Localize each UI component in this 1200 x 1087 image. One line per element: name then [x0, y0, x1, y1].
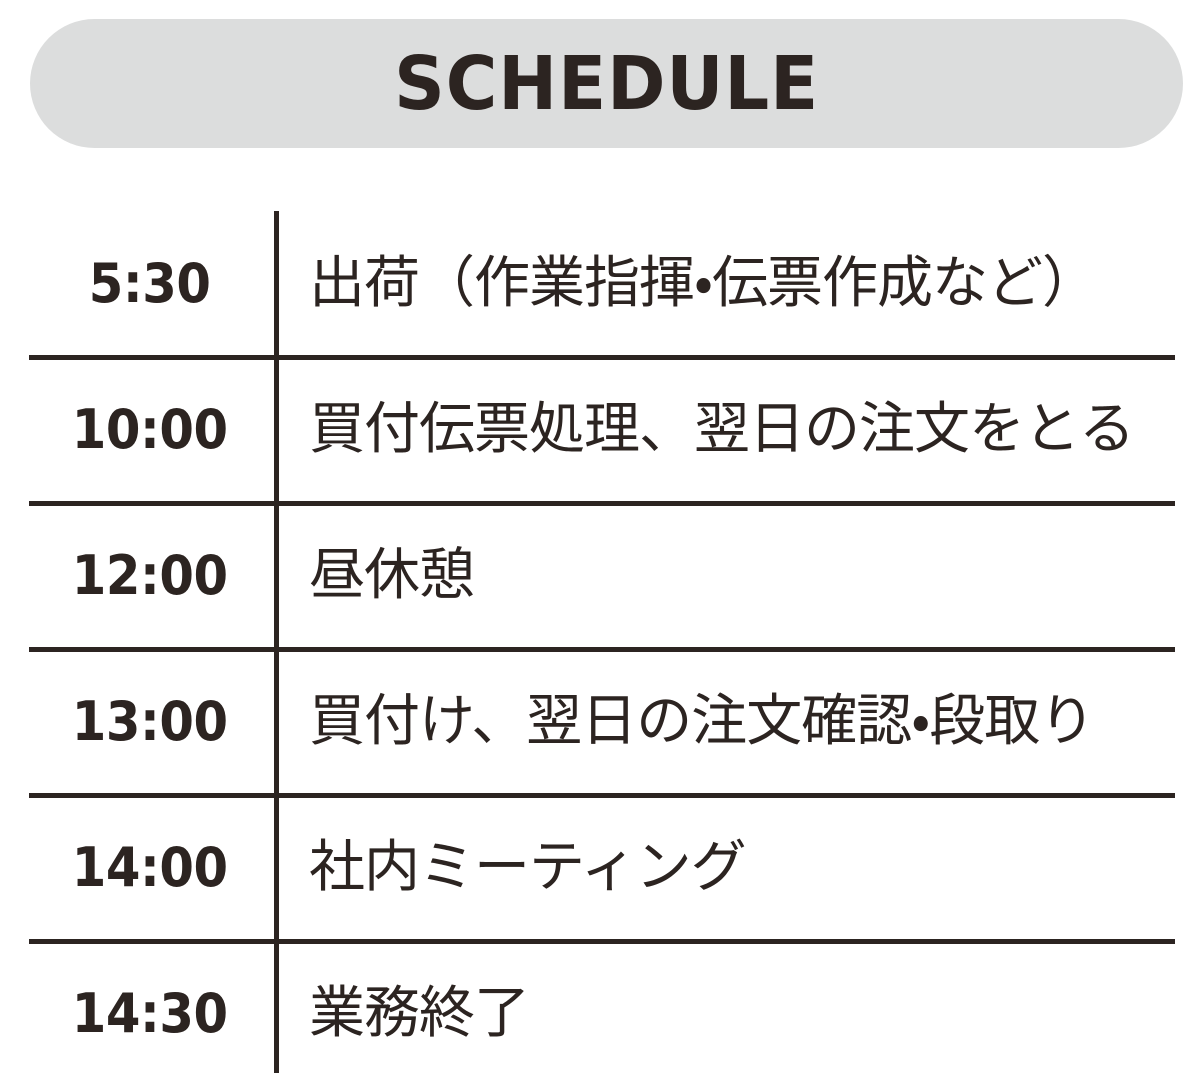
schedule-page: SCHEDULE 5:30 出荷（作業指揮・伝票作成など） 10:00 買付伝票… [0, 0, 1200, 1087]
row-time: 14:30 [39, 987, 264, 1041]
row-time: 14:00 [39, 841, 264, 895]
row-task: 出荷（作業指揮・伝票作成など） [274, 253, 1175, 315]
row-time: 10:00 [39, 403, 264, 457]
schedule-row-list: 5:30 出荷（作業指揮・伝票作成など） 10:00 買付伝票処理、翌日の注文を… [29, 211, 1175, 1087]
row-task: 業務終了 [274, 983, 1175, 1045]
row-task: 昼休憩 [274, 545, 1175, 607]
table-row: 5:30 出荷（作業指揮・伝票作成など） [29, 211, 1175, 357]
schedule-table: 5:30 出荷（作業指揮・伝票作成など） 10:00 買付伝票処理、翌日の注文を… [29, 211, 1175, 1077]
table-row: 13:00 買付け、翌日の注文確認・段取り [29, 649, 1175, 795]
schedule-header-banner: SCHEDULE [30, 19, 1183, 148]
row-time: 12:00 [39, 549, 264, 603]
row-task: 社内ミーティング [274, 837, 1175, 899]
row-time: 13:00 [39, 695, 264, 749]
table-row: 14:30 業務終了 [29, 941, 1175, 1087]
row-task: 買付け、翌日の注文確認・段取り [274, 691, 1175, 753]
table-row: 10:00 買付伝票処理、翌日の注文をとる [29, 357, 1175, 503]
table-row: 14:00 社内ミーティング [29, 795, 1175, 941]
page-title: SCHEDULE [394, 47, 819, 121]
table-row: 12:00 昼休憩 [29, 503, 1175, 649]
row-task: 買付伝票処理、翌日の注文をとる [274, 399, 1175, 461]
row-time: 5:30 [39, 257, 264, 311]
